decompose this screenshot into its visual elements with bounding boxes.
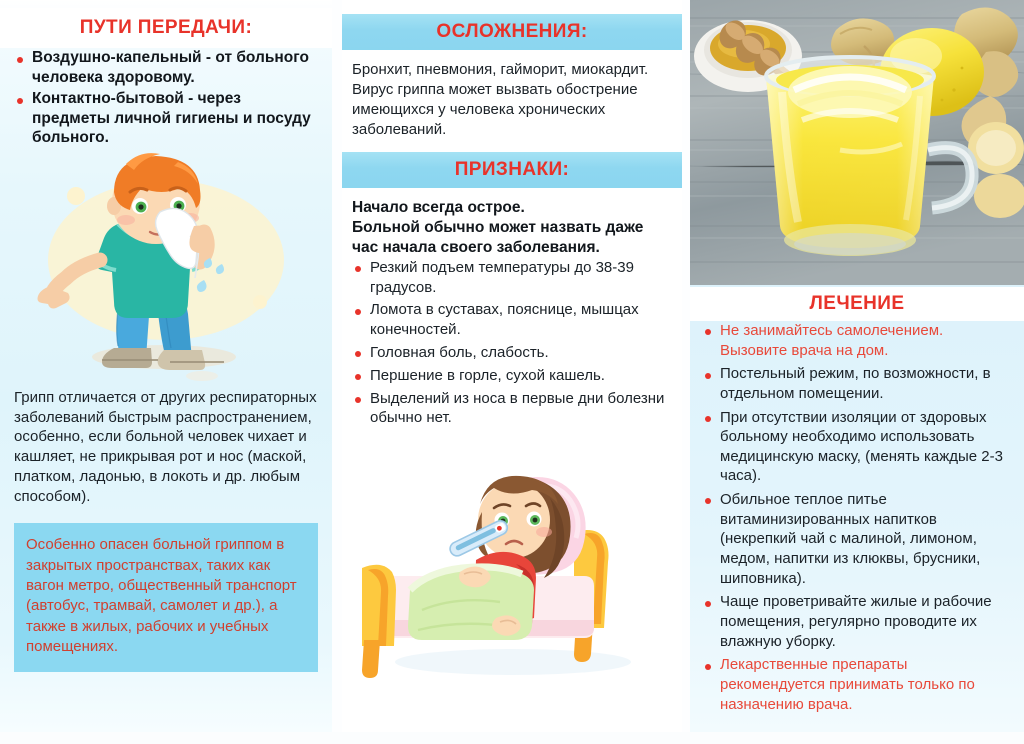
complications-header: ОСЛОЖНЕНИЯ: bbox=[342, 14, 682, 50]
list-item: Постельный режим, по возможности, в отде… bbox=[702, 364, 1012, 403]
list-item: Контактно-бытовой - через предметы лично… bbox=[14, 89, 318, 148]
list-item: Не занимайтесь самолечением. Вызовите вр… bbox=[702, 321, 1012, 360]
tea-photo-graphic bbox=[690, 0, 1024, 285]
transmission-paragraph: Грипп отличается от других респираторных… bbox=[14, 388, 318, 508]
column-treatment: ЛЕЧЕНИЕ Не занимайтесь самолечением. Выз… bbox=[690, 0, 1024, 732]
transmission-bullet-list: Воздушно-капельный - от больного человек… bbox=[14, 48, 318, 148]
list-item: Выделений из носа в первые дни болезни о… bbox=[352, 389, 672, 429]
bottom-margin bbox=[0, 732, 1024, 744]
boy-blowing-nose-icon bbox=[14, 152, 314, 382]
complications-paragraph: Бронхит, пневмония, гайморит, миокардит.… bbox=[352, 60, 672, 140]
transmission-header: ПУТИ ПЕРЕДАЧИ: bbox=[0, 8, 332, 48]
signs-body: Начало всегда острое. Больной обычно мож… bbox=[342, 198, 682, 428]
treatment-header: ЛЕЧЕНИЕ bbox=[690, 287, 1024, 321]
list-item: Першение в горле, сухой кашель. bbox=[352, 366, 672, 386]
list-item: Ломота в суставах, пояснице, мышцах коне… bbox=[352, 300, 672, 340]
list-item: Резкий подъем температуры до 38-39 граду… bbox=[352, 258, 672, 298]
transmission-body: Воздушно-капельный - от больного человек… bbox=[0, 48, 332, 148]
poster-root: ПУТИ ПЕРЕДАЧИ: Воздушно-капельный - от б… bbox=[0, 0, 1024, 744]
list-item: Чаще проветривайте жилые и рабочие помещ… bbox=[702, 592, 1012, 651]
sick-girl-in-bed-icon bbox=[348, 434, 674, 684]
list-item: Лекарственные препараты рекомендуется пр… bbox=[702, 655, 1012, 714]
boy-blowing-nose-illustration bbox=[0, 152, 332, 382]
signs-bullet-list: Резкий подъем температуры до 38-39 граду… bbox=[352, 258, 672, 428]
column-transmission: ПУТИ ПЕРЕДАЧИ: Воздушно-капельный - от б… bbox=[0, 0, 332, 732]
sick-girl-in-bed-illustration bbox=[342, 434, 682, 684]
list-item: Обильное теплое питье витаминизированных… bbox=[702, 490, 1012, 588]
treatment-bullet-list: Не занимайтесь самолечением. Вызовите вр… bbox=[702, 321, 1012, 714]
lemon-ginger-honey-tea-photo bbox=[690, 0, 1024, 285]
treatment-body: Не занимайтесь самолечением. Вызовите вр… bbox=[690, 321, 1024, 714]
complications-body: Бронхит, пневмония, гайморит, миокардит.… bbox=[342, 60, 682, 140]
signs-header: ПРИЗНАКИ: bbox=[342, 152, 682, 188]
transmission-callout-text: Особенно опасен больной гриппом в закрыт… bbox=[26, 535, 306, 657]
list-item: Головная боль, слабость. bbox=[352, 343, 672, 363]
column-complications-signs: ОСЛОЖНЕНИЯ: Бронхит, пневмония, гайморит… bbox=[342, 0, 682, 732]
transmission-callout-box: Особенно опасен больной гриппом в закрыт… bbox=[14, 523, 318, 671]
list-item: Воздушно-капельный - от больного человек… bbox=[14, 48, 318, 87]
list-item: При отсутствии изоляции от здоровых боль… bbox=[702, 408, 1012, 487]
signs-lead-line-1: Начало всегда острое. bbox=[352, 198, 672, 218]
signs-lead-line-2: Больной обычно может назвать даже час на… bbox=[352, 218, 672, 258]
